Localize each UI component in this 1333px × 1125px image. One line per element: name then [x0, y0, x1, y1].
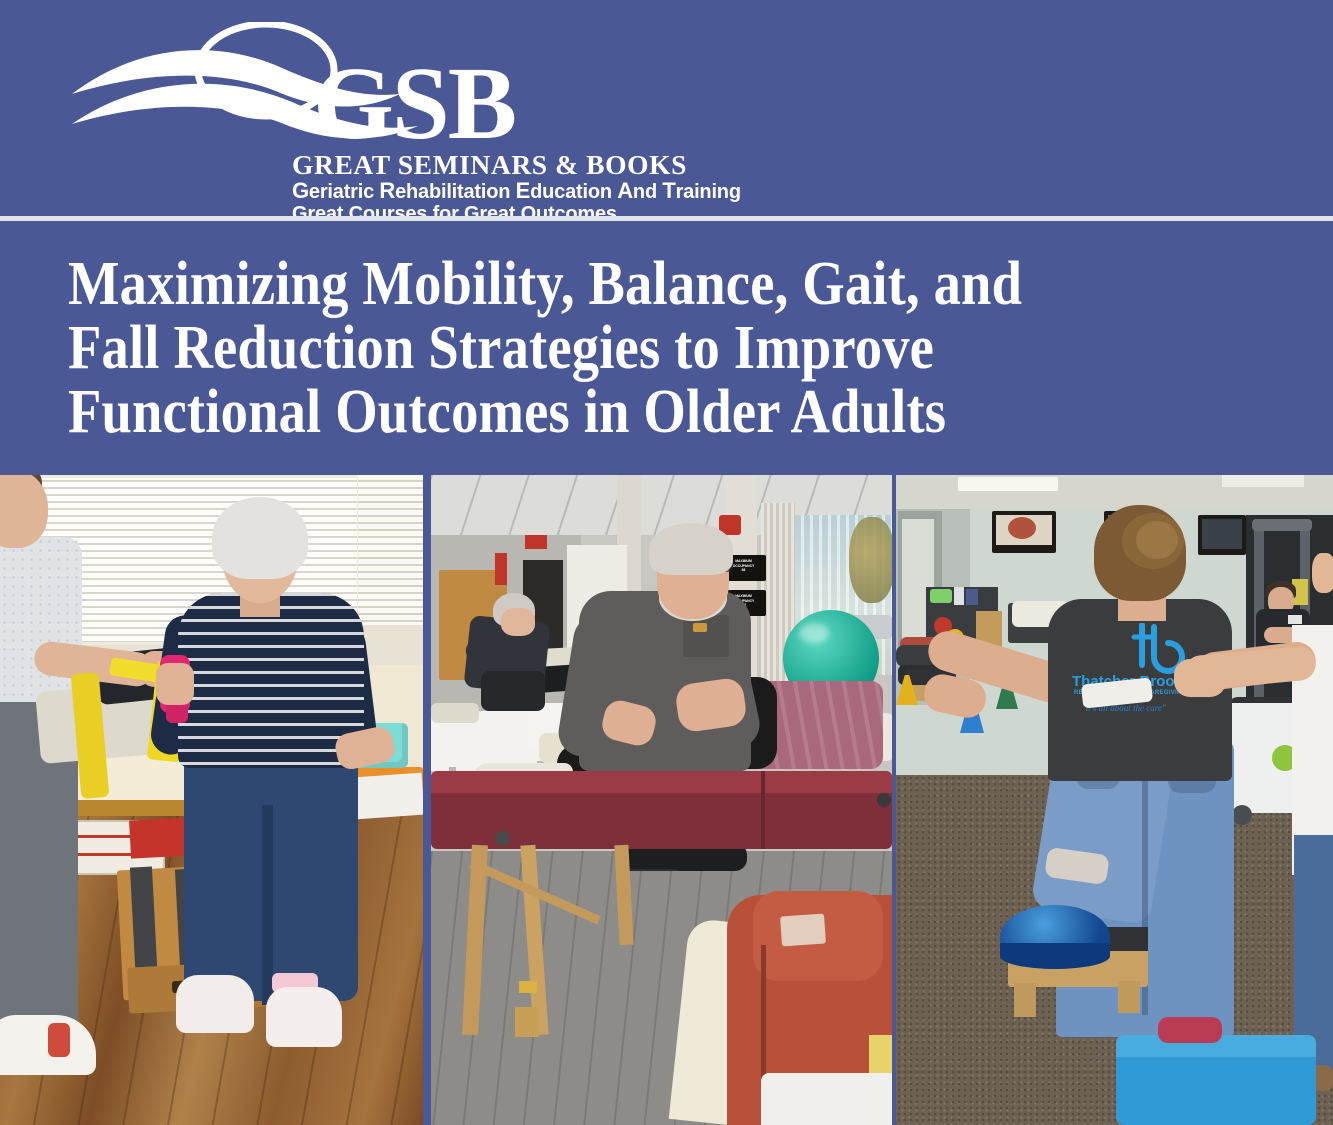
photo-hip-mobilization-demonstration: MAXIMUM OCCUPANCY 66 MAXIMUM OCCUPANCY 1…	[431, 475, 892, 1125]
title-line-1: Maximizing Mobility, Balance, Gait, and	[68, 253, 1022, 315]
title-block: Maximizing Mobility, Balance, Gait, and …	[0, 221, 1333, 475]
gsb-logo: GSB GREAT SEMINARS & BOOKS Geriatric Reh…	[70, 22, 710, 212]
photo-resistance-band-balance-training	[0, 475, 423, 1125]
seminar-title-slide: GSB GREAT SEMINARS & BOOKS Geriatric Reh…	[0, 0, 1333, 1125]
gsb-wordmark: GSB	[313, 52, 515, 156]
tagline-primary: Geriatric Rehabilitation Education And T…	[292, 178, 741, 204]
title-line-2: Fall Reduction Strategies to Improve	[68, 317, 934, 379]
header-band: GSB GREAT SEMINARS & BOOKS Geriatric Reh…	[0, 0, 1333, 218]
photo-strip: MAXIMUM OCCUPANCY 66 MAXIMUM OCCUPANCY 1…	[0, 475, 1333, 1125]
organization-name: GREAT SEMINARS & BOOKS	[292, 149, 687, 181]
photo-bosu-balance-training: Thatcher Brook REHABILITATION AND CAREGI…	[896, 475, 1333, 1125]
title-line-3: Functional Outcomes in Older Adults	[68, 381, 946, 443]
